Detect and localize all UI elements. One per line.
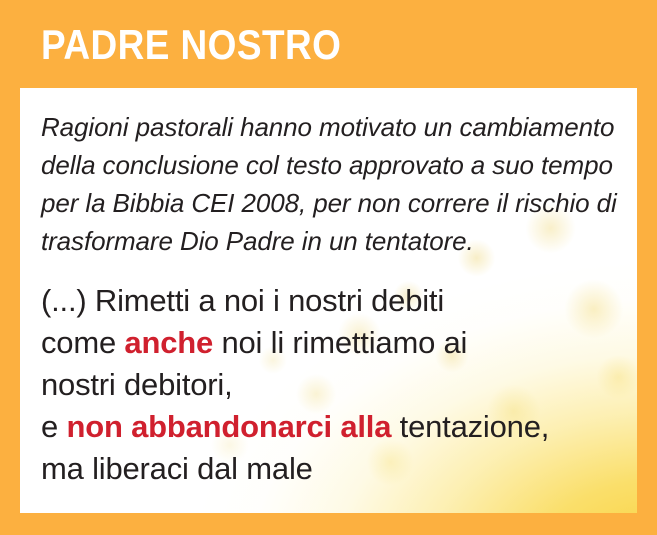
prayer-text: (...) Rimetti a noi i nostri debiti come… (41, 280, 619, 490)
prayer-line-3: nostri debitori, (41, 367, 233, 402)
page-title: PADRE NOSTRO (41, 22, 341, 68)
prayer-line-5: ma liberaci dal male (41, 451, 313, 486)
padre-nostro-poster: PADRE NOSTRO Ragioni pastorali hanno mot… (0, 0, 657, 535)
prayer-line-2-before: come (41, 325, 124, 360)
prayer-line-4-before: e (41, 409, 66, 444)
prayer-line-1: (...) Rimetti a noi i nostri debiti (41, 283, 444, 318)
prayer-line-2-after: noi li rimettiamo ai (213, 325, 467, 360)
card-content: Ragioni pastorali hanno motivato un camb… (20, 88, 637, 490)
title-bar: PADRE NOSTRO (0, 0, 657, 88)
content-card: Ragioni pastorali hanno motivato un camb… (20, 88, 637, 513)
pastoral-note-text: Ragioni pastorali hanno motivato un camb… (41, 108, 619, 260)
prayer-line-4-after: tentazione, (391, 409, 549, 444)
prayer-highlight-non-abbandonarci-alla: non abbandonarci alla (66, 409, 391, 444)
prayer-highlight-anche: anche (124, 325, 213, 360)
